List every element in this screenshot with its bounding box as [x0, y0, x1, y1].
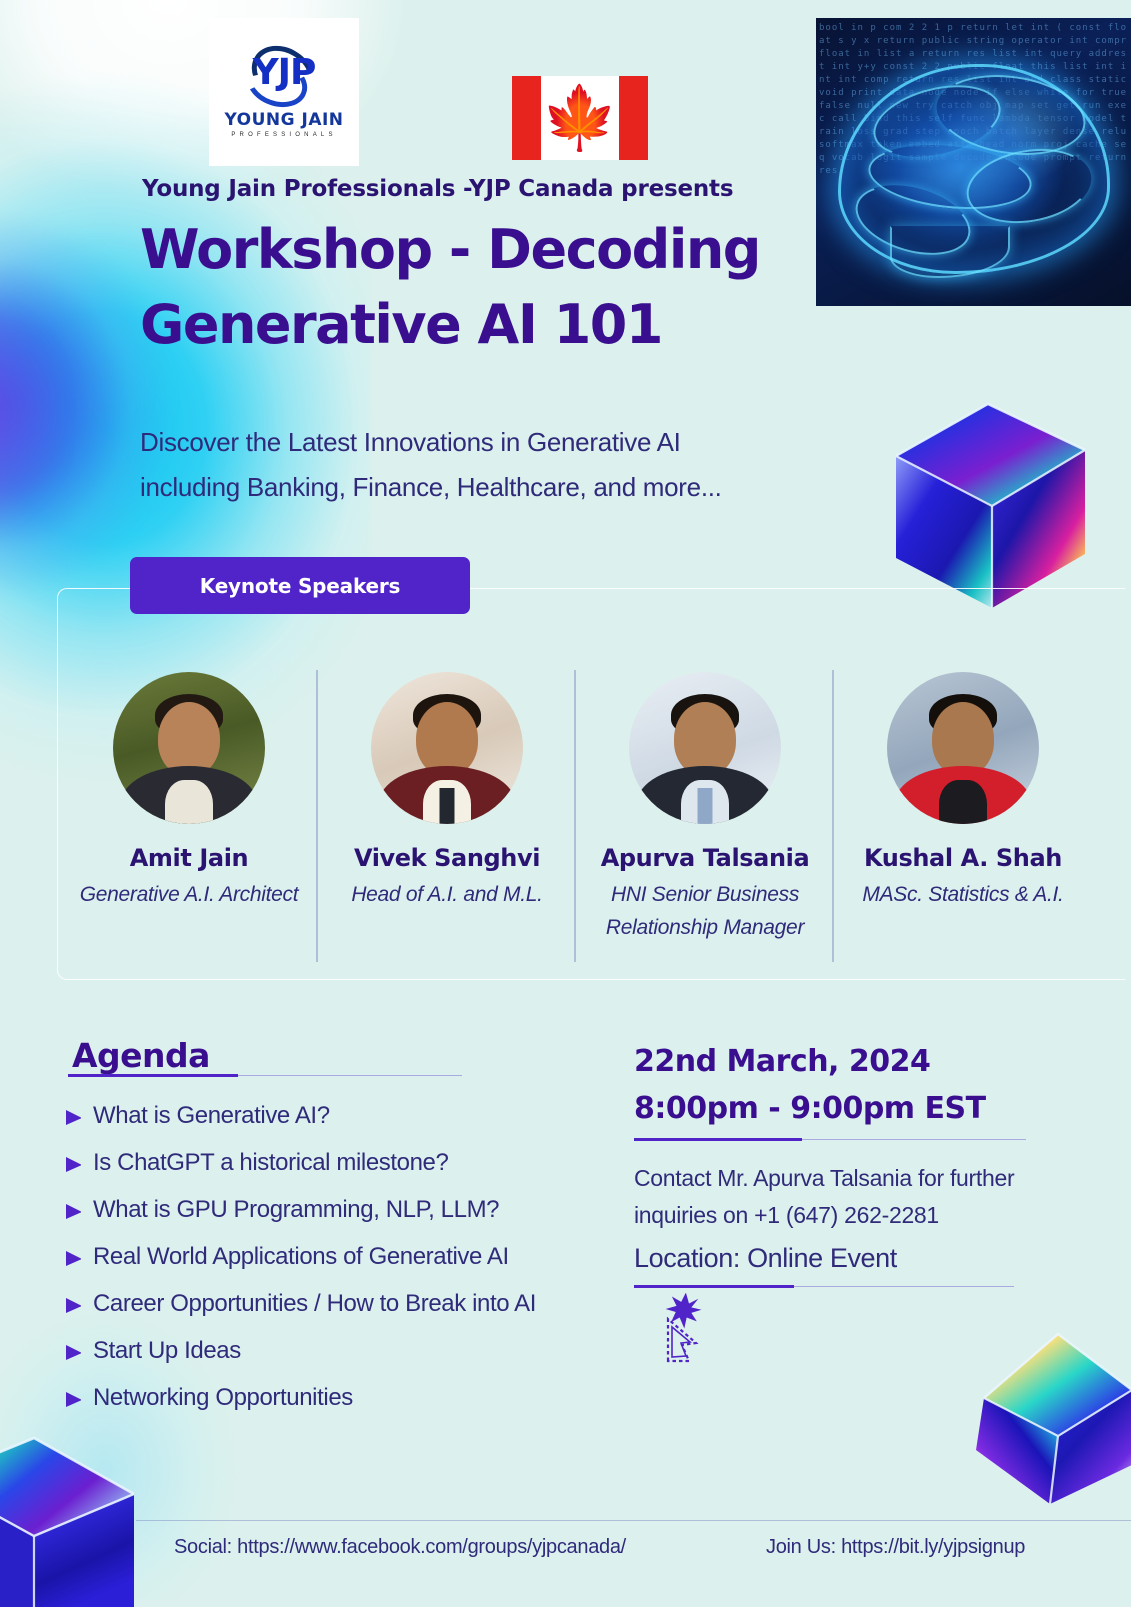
- page-subtitle-line1: Discover the Latest Innovations in Gener…: [140, 420, 900, 465]
- location-divider: [634, 1285, 1014, 1288]
- agenda-item: Start Up Ideas: [66, 1333, 666, 1369]
- agenda-item-label: What is GPU Programming, NLP, LLM?: [93, 1192, 499, 1228]
- speakers-row: Amit Jain Generative A.I. Architect Vive…: [60, 650, 1131, 944]
- avatar: [113, 672, 265, 824]
- contact-line1: Contact Mr. Apurva Talsania for further: [634, 1160, 1094, 1197]
- footer-social-link[interactable]: Social: https://www.facebook.com/groups/…: [174, 1536, 626, 1559]
- footer-join-link[interactable]: Join Us: https://bit.ly/yjpsignup: [766, 1536, 1025, 1559]
- agenda-item-label: Networking Opportunities: [93, 1380, 353, 1416]
- agenda-divider-thin: [238, 1075, 462, 1076]
- presenter-line: Young Jain Professionals -YJP Canada pre…: [142, 176, 733, 202]
- agenda-item: Career Opportunities / How to Break into…: [66, 1286, 666, 1322]
- page-subtitle: Discover the Latest Innovations in Gener…: [140, 420, 900, 510]
- logo-letters: YJP: [230, 50, 338, 96]
- date-divider-thin: [802, 1139, 1026, 1140]
- avatar-shirt: [939, 780, 987, 824]
- speaker-role: HNI Senior Business Relationship Manager: [582, 878, 828, 944]
- date-divider: [634, 1138, 1026, 1141]
- avatar-tie: [440, 788, 455, 824]
- iridescent-cube-decoration: [0, 1432, 134, 1607]
- bullet-triangle-icon: [66, 1204, 81, 1219]
- iridescent-cube-decoration: [888, 398, 1093, 613]
- contact-line2: inquiries on +1 (647) 262-2281: [634, 1197, 1094, 1234]
- maple-leaf-icon: 🍁: [541, 87, 618, 149]
- contact-info: Contact Mr. Apurva Talsania for further …: [634, 1160, 1094, 1234]
- footer-divider: [136, 1520, 1131, 1521]
- flag-center-panel: 🍁: [541, 76, 618, 160]
- speaker-role: Generative A.I. Architect: [66, 878, 312, 911]
- cursor-sparkle-icon: [662, 1293, 720, 1367]
- speaker-name: Amit Jain: [66, 844, 312, 872]
- avatar: [371, 672, 523, 824]
- location-divider-thick: [634, 1285, 794, 1288]
- avatar-tie: [698, 788, 713, 824]
- event-time: 8:00pm - 9:00pm EST: [634, 1085, 986, 1132]
- background-blob-violet: [0, 300, 60, 530]
- bullet-triangle-icon: [66, 1298, 81, 1313]
- agenda-heading: Agenda: [72, 1036, 210, 1075]
- avatar: [887, 672, 1039, 824]
- avatar-head: [416, 702, 478, 776]
- agenda-item-label: Real World Applications of Generative AI: [93, 1239, 509, 1275]
- agenda-item: Is ChatGPT a historical milestone?: [66, 1145, 666, 1181]
- location-divider-thin: [794, 1286, 1014, 1287]
- speaker-role: MASc. Statistics & A.I.: [840, 878, 1086, 911]
- agenda-item: What is Generative AI?: [66, 1098, 666, 1134]
- bullet-triangle-icon: [66, 1251, 81, 1266]
- avatar: [629, 672, 781, 824]
- agenda-divider: [68, 1074, 462, 1077]
- speaker-name: Kushal A. Shah: [840, 844, 1086, 872]
- speaker-card: Kushal A. Shah MASc. Statistics & A.I.: [834, 650, 1092, 944]
- page-title: Workshop - Decoding Generative AI 101: [140, 212, 840, 362]
- speaker-card: Amit Jain Generative A.I. Architect: [60, 650, 318, 944]
- page-subtitle-line2: including Banking, Finance, Healthcare, …: [140, 465, 900, 510]
- event-date: 22nd March, 2024: [634, 1038, 986, 1085]
- avatar-shirt: [165, 780, 213, 824]
- ai-brain-image: bool in p com 2 2 1 p return let int ( c…: [816, 18, 1131, 306]
- agenda-item-label: What is Generative AI?: [93, 1098, 330, 1134]
- logo-organization-sub: PROFESSIONALS: [231, 132, 336, 138]
- yjp-logo-mark: YJP: [230, 46, 338, 108]
- avatar-head: [158, 702, 220, 776]
- agenda-list: What is Generative AI? Is ChatGPT a hist…: [66, 1098, 666, 1427]
- date-divider-thick: [634, 1138, 802, 1141]
- agenda-item-label: Career Opportunities / How to Break into…: [93, 1286, 536, 1322]
- agenda-item-label: Start Up Ideas: [93, 1333, 241, 1369]
- speaker-role: Head of A.I. and M.L.: [324, 878, 570, 911]
- speaker-name: Apurva Talsania: [582, 844, 828, 872]
- agenda-divider-thick: [68, 1074, 238, 1077]
- event-datetime: 22nd March, 2024 8:00pm - 9:00pm EST: [634, 1038, 986, 1132]
- agenda-item-label: Is ChatGPT a historical milestone?: [93, 1145, 448, 1181]
- logo-organization-name: YOUNG JAIN: [224, 110, 343, 130]
- flag-left-bar: [512, 76, 541, 160]
- avatar-head: [932, 702, 994, 776]
- avatar-head: [674, 702, 736, 776]
- speaker-card: Vivek Sanghvi Head of A.I. and M.L.: [318, 650, 576, 944]
- event-location: Location: Online Event: [634, 1243, 897, 1274]
- bullet-triangle-icon: [66, 1110, 81, 1125]
- bullet-triangle-icon: [66, 1157, 81, 1172]
- keynote-speakers-badge: Keynote Speakers: [130, 557, 470, 614]
- agenda-item: Networking Opportunities: [66, 1380, 666, 1416]
- page-title-line2: Generative AI 101: [140, 287, 840, 362]
- agenda-item: What is GPU Programming, NLP, LLM?: [66, 1192, 666, 1228]
- bullet-triangle-icon: [66, 1392, 81, 1407]
- speaker-name: Vivek Sanghvi: [324, 844, 570, 872]
- iridescent-crystal-decoration: [962, 1318, 1131, 1508]
- speaker-card: Apurva Talsania HNI Senior Business Rela…: [576, 650, 834, 944]
- agenda-item: Real World Applications of Generative AI: [66, 1239, 666, 1275]
- yjp-logo: YJP YOUNG JAIN PROFESSIONALS: [209, 18, 359, 166]
- canada-flag-icon: 🍁: [512, 76, 648, 160]
- page-title-line1: Workshop - Decoding: [140, 212, 840, 287]
- flag-right-bar: [619, 76, 648, 160]
- bullet-triangle-icon: [66, 1345, 81, 1360]
